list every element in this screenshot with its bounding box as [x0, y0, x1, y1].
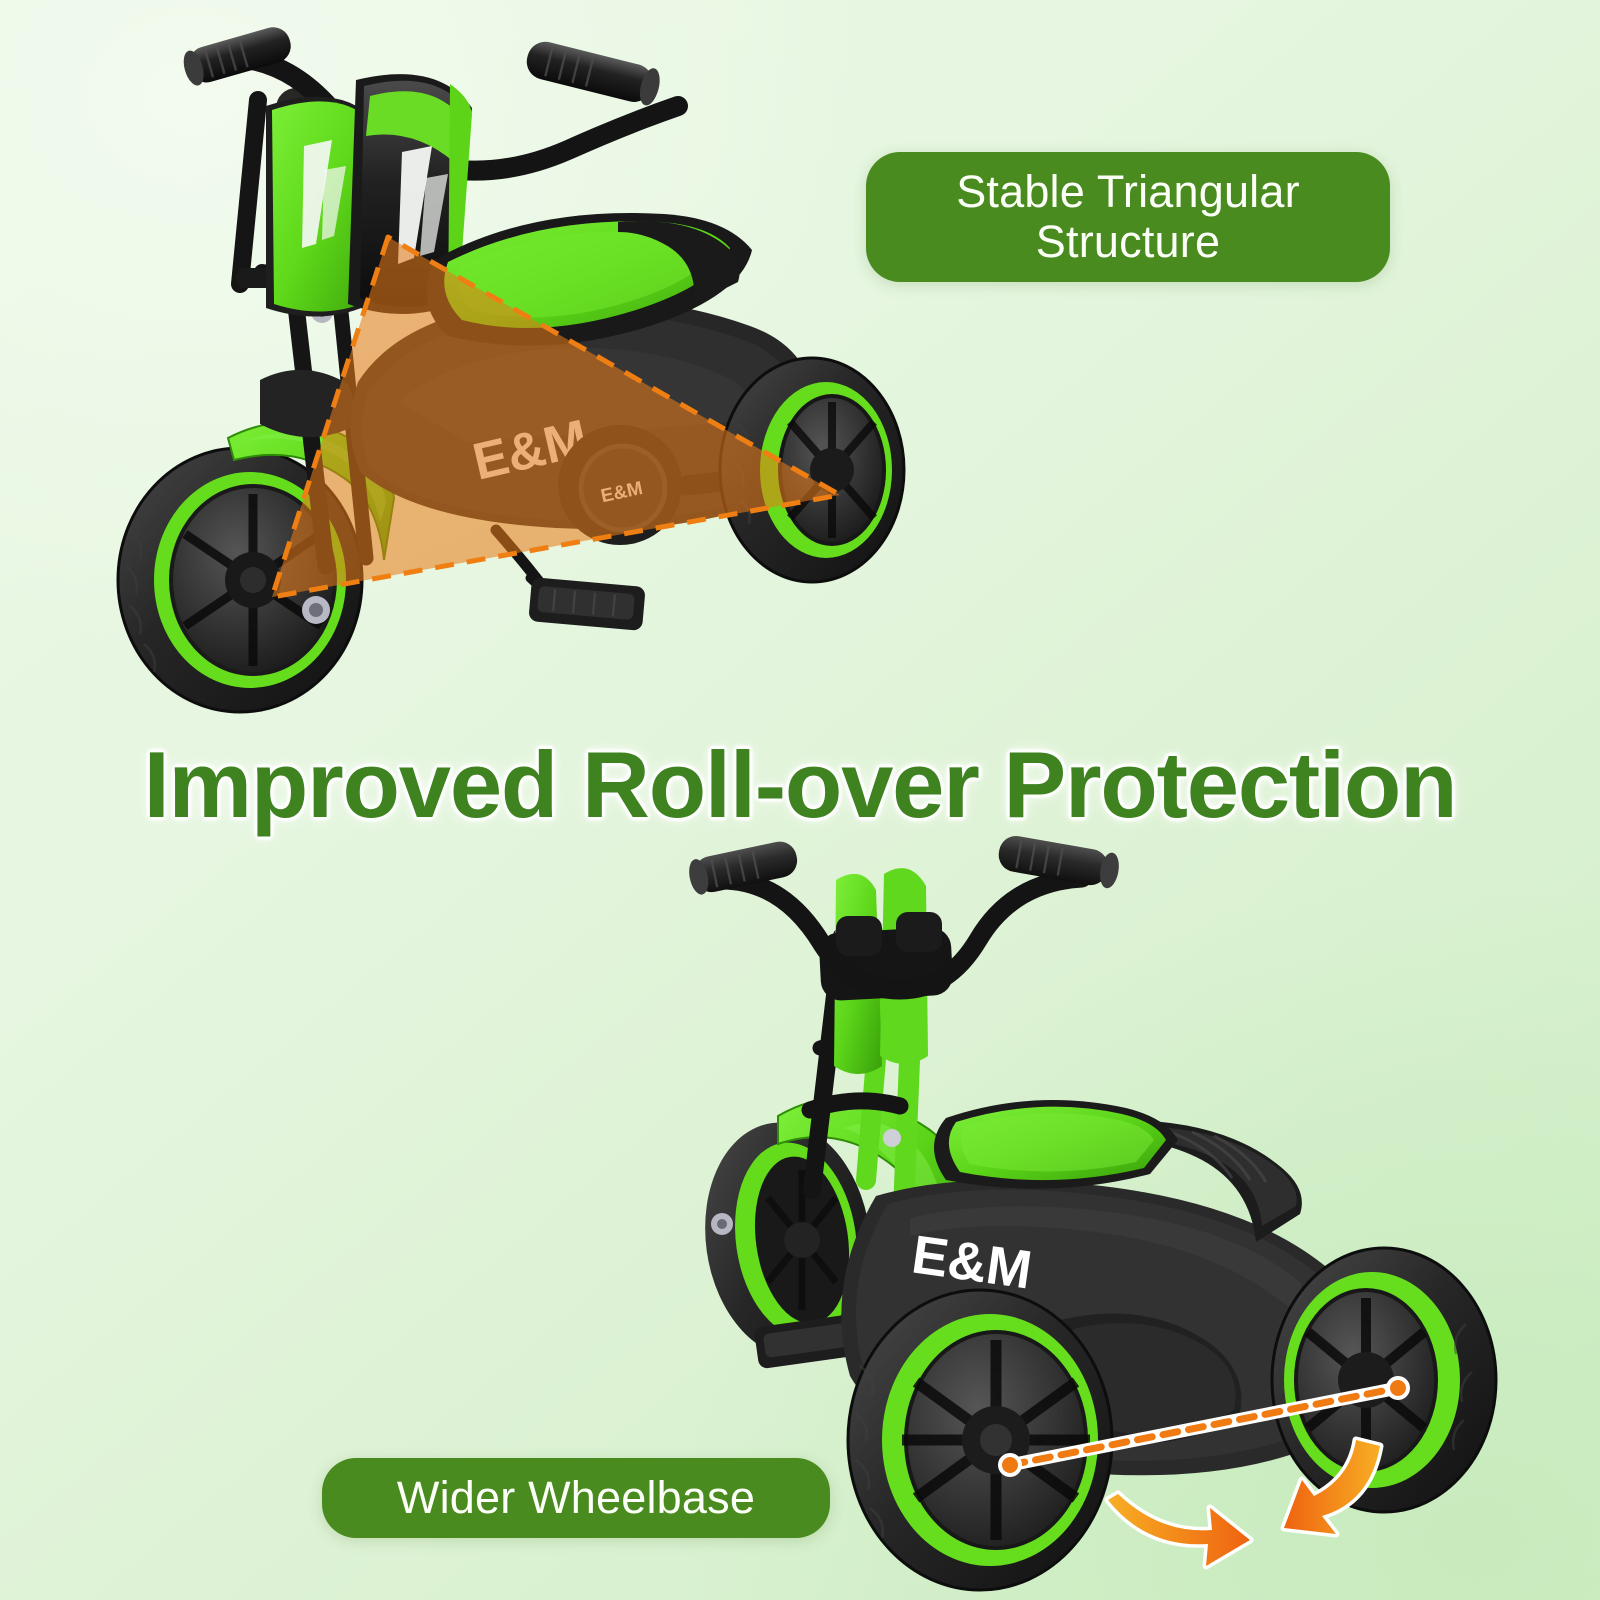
product-feature-graphic: E&M E&M: [0, 0, 1600, 1600]
badge-wider-wheelbase[interactable]: Wider Wheelbase: [322, 1458, 830, 1538]
arrow-right-outward: [1284, 1440, 1380, 1534]
wider-wheelbase-annotation: [0, 0, 1600, 1600]
wheelbase-endpoint-right: [1390, 1380, 1406, 1396]
wheelbase-endpoint-left: [1002, 1457, 1018, 1473]
badge-wheelbase-label: Wider Wheelbase: [397, 1473, 755, 1523]
wheelbase-line: [1010, 1388, 1398, 1465]
arrow-left-outward: [1108, 1494, 1250, 1566]
